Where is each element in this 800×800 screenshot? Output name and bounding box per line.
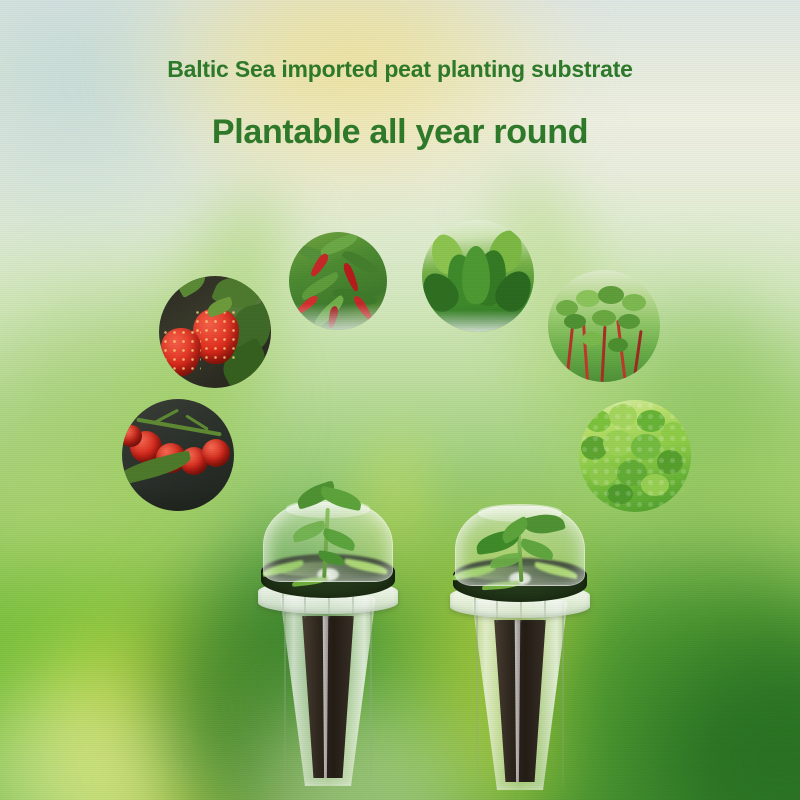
crop-circle-radish-microgreens [548,270,660,382]
headline-secondary: Plantable all year round [0,113,800,152]
seed-pod-left [248,488,408,788]
product-banner: Baltic Sea imported peat planting substr… [0,0,800,800]
crop-circle-strawberry [159,276,271,388]
crop-circle-bok-choy [422,220,534,332]
seed-pod-right [440,492,600,792]
headline-primary: Baltic Sea imported peat planting substr… [0,56,800,83]
crop-circle-cherry-tomato [122,399,234,511]
crop-circle-chili [289,232,387,330]
